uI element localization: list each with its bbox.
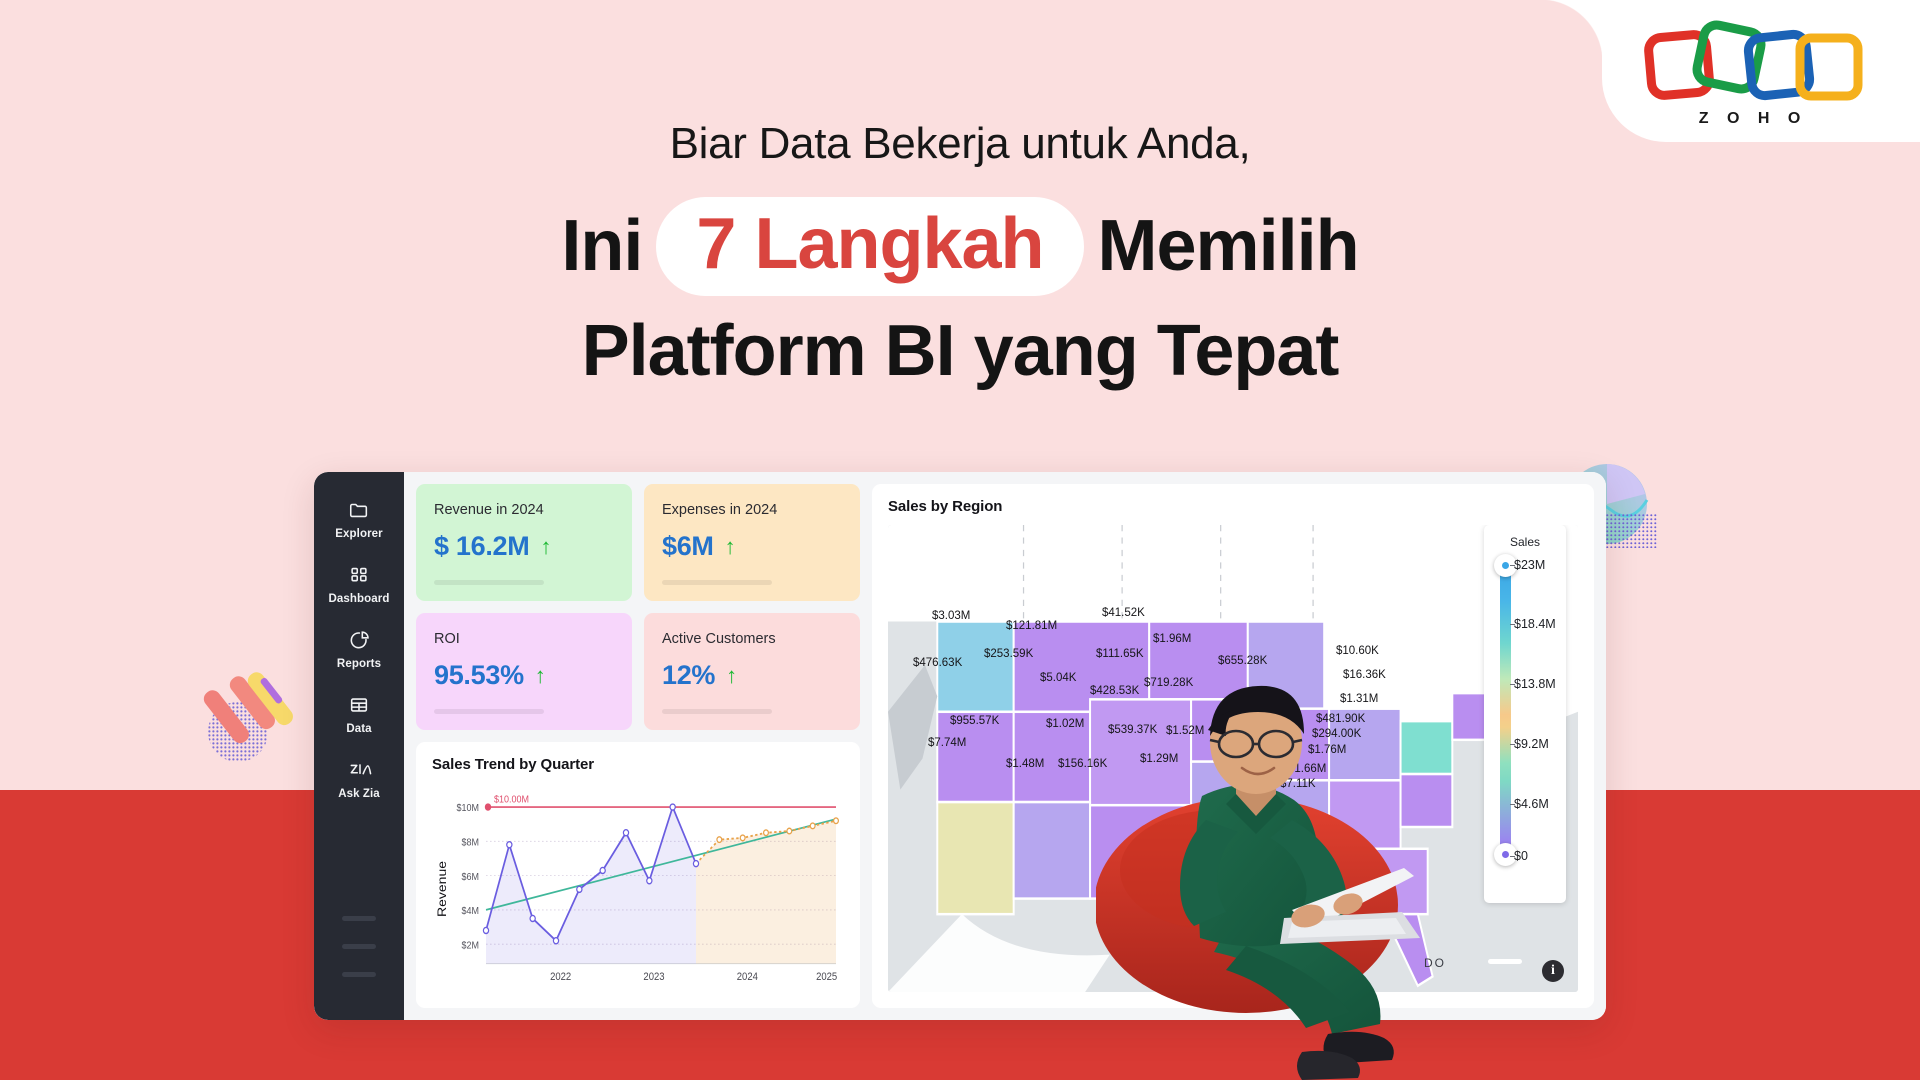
kpi-title: Expenses in 2024 [662, 502, 842, 518]
dashboard-content: Revenue in 2024 $ 16.2M ↑ Expenses in 20… [404, 472, 1606, 1020]
headline-line-3: Platform BI yang Tepat [0, 312, 1920, 391]
trend-up-icon: ↑ [540, 536, 551, 558]
x-axis-tick-label: 2025 [816, 971, 837, 983]
kpi-card-expenses[interactable]: Expenses in 2024 $6M ↑ [644, 484, 860, 601]
legend-tick: $23M [1514, 558, 1545, 572]
table-icon [348, 694, 370, 716]
map-region-value: $41.52K [1102, 607, 1145, 619]
headline-word-after: Memilih [1098, 209, 1359, 285]
legend-tick: $18.4M [1514, 617, 1556, 631]
trend-up-icon: ↑ [725, 536, 736, 558]
data-point[interactable] [693, 861, 698, 867]
map-region-value: $1.31M [1340, 693, 1378, 705]
y-axis-tick-label: $2M [462, 940, 479, 952]
kpi-card-roi[interactable]: ROI 95.53% ↑ [416, 613, 632, 730]
legend-tick: $9.2M [1514, 737, 1549, 751]
zoho-logo: Z O H O [1642, 18, 1872, 128]
sidebar-placeholder-stubs [342, 916, 376, 1020]
card-title: Sales Trend by Quarter [432, 756, 844, 773]
map-region-value: $5.04K [1040, 672, 1076, 684]
headline-block: Biar Data Bekerja untuk Anda, Ini 7 Lang… [0, 118, 1920, 392]
y-axis-tick-label: $8M [462, 837, 479, 849]
x-axis-tick-label: 2024 [737, 971, 758, 983]
legend-tick: $0 [1514, 849, 1528, 863]
data-point[interactable] [553, 938, 558, 944]
dashboard-sidebar: Explorer Dashboard Reports [314, 472, 404, 1020]
dashboard-window: Explorer Dashboard Reports [314, 472, 1606, 1020]
sidebar-stub [342, 916, 376, 921]
map-region-value: $111.65K [1096, 648, 1144, 660]
kpi-value: $ 16.2M [434, 531, 529, 562]
right-column: Sales by Region [872, 484, 1594, 1008]
sidebar-stub [342, 972, 376, 977]
us-choropleth-map [888, 525, 1578, 992]
kpi-sparkline-placeholder [662, 580, 772, 585]
map-region-value: $539.37K [1108, 724, 1157, 736]
pie-chart-icon [348, 629, 370, 651]
map-region-value: $1.76M [1308, 744, 1346, 756]
headline-word-before: Ini [561, 209, 642, 285]
map-region-value: $156.16K [1058, 758, 1107, 770]
map-region-value: $719.28K [1144, 677, 1193, 689]
headline-line-1: Biar Data Bekerja untuk Anda, [0, 118, 1920, 171]
sales-trend-card: Sales Trend by Quarter $2M$4M$6M$8M$10M2… [416, 742, 860, 1008]
kpi-title: Revenue in 2024 [434, 502, 614, 518]
sidebar-item-explorer[interactable]: Explorer [314, 486, 404, 551]
x-axis-tick-label: 2022 [550, 971, 571, 983]
map-region-value: $253.59K [984, 648, 1033, 660]
sidebar-item-label: Explorer [335, 528, 382, 540]
headline-highlight-pill: 7 Langkah [656, 197, 1083, 297]
map-region-value: $7.74M [928, 737, 966, 749]
kpi-card-active-customers[interactable]: Active Customers 12% ↑ [644, 613, 860, 730]
decoration-bars-left [196, 650, 306, 770]
map-region-value: $955.57K [950, 715, 999, 727]
grid-icon [348, 564, 370, 586]
map-region-value: $294.00K [1312, 728, 1361, 740]
forecast-area [696, 821, 836, 964]
map-region-value: $476.63K [913, 657, 962, 669]
y-axis-title: Revenue [435, 861, 449, 917]
kpi-value: $6M [662, 531, 714, 562]
kpi-sparkline-placeholder [434, 709, 544, 714]
legend-title: Sales [1484, 535, 1566, 549]
legend-body: $23M $18.4M $13.8M $9.2M $4.6M $0 [1484, 555, 1566, 883]
y-axis-tick-label: $4M [462, 906, 479, 918]
zia-icon [348, 759, 370, 781]
trend-up-icon: ↑ [535, 665, 546, 687]
forecast-point[interactable] [764, 830, 769, 836]
map-region-value: $1.96M [1153, 633, 1191, 645]
kpi-sparkline-placeholder [662, 709, 772, 714]
left-column: Revenue in 2024 $ 16.2M ↑ Expenses in 20… [416, 484, 860, 1008]
map-scale-bar [1488, 959, 1522, 964]
sidebar-item-label: Data [346, 723, 371, 735]
target-line-label: $10.00M [494, 794, 529, 806]
forecast-point[interactable] [834, 818, 839, 824]
y-axis-tick-label: $10M [457, 803, 479, 815]
data-point[interactable] [623, 830, 628, 836]
headline-line-2: Ini 7 Langkah Memilih [0, 197, 1920, 297]
legend-tick: $4.6M [1514, 797, 1549, 811]
forecast-point[interactable] [787, 828, 792, 834]
map-region-value: $3.03M [932, 610, 970, 622]
kpi-value: 95.53% [434, 660, 524, 691]
map-region-value: $7.11K [1280, 778, 1316, 790]
map-region-value: $1.02M [1046, 718, 1084, 730]
map-region-value: $16.36K [1343, 669, 1386, 681]
map-region-value: $655.28K [1218, 655, 1267, 667]
kpi-value-row: 95.53% ↑ [434, 660, 614, 691]
data-point[interactable] [483, 927, 488, 933]
map-legend[interactable]: Sales $23M $18.4M $13.8M $9.2M $4.6M $0 [1484, 525, 1566, 903]
sidebar-item-reports[interactable]: Reports [314, 616, 404, 681]
map-region-value: $871K [1233, 695, 1266, 707]
forecast-point[interactable] [740, 835, 745, 841]
kpi-title: Active Customers [662, 631, 842, 647]
forecast-point[interactable] [810, 823, 815, 829]
kpi-value-row: 12% ↑ [662, 660, 842, 691]
map-region-value: $1.66M [1288, 763, 1326, 775]
map-region-value: $10.60K [1336, 645, 1379, 657]
zoho-logo-marks [1642, 18, 1872, 104]
map-region-value: $428.53K [1090, 685, 1139, 697]
sales-trend-chart[interactable]: $2M$4M$6M$8M$10M2022202320242025Revenue$… [432, 777, 844, 994]
data-point[interactable] [647, 878, 652, 884]
info-icon[interactable]: i [1542, 960, 1564, 982]
kpi-value-row: $6M ↑ [662, 531, 842, 562]
map-region-value: $481.90K [1316, 713, 1365, 725]
map-region-value: $1.48M [1006, 758, 1044, 770]
map-region-value: $1.29M [1140, 753, 1178, 765]
x-axis-tick-label: 2023 [643, 971, 664, 983]
sales-trend-plot: $2M$4M$6M$8M$10M2022202320242025Revenue$… [432, 777, 844, 994]
kpi-grid: Revenue in 2024 $ 16.2M ↑ Expenses in 20… [416, 484, 860, 730]
data-point[interactable] [530, 915, 535, 921]
data-point[interactable] [670, 804, 675, 810]
map-region-value: $121.81M [1006, 620, 1057, 632]
map-watermark: DO [1424, 956, 1446, 970]
target-line-marker [485, 803, 491, 810]
sidebar-item-label: Reports [337, 658, 381, 670]
data-point[interactable] [600, 867, 605, 873]
data-point[interactable] [577, 886, 582, 892]
sidebar-item-ask-zia[interactable]: Ask Zia [314, 746, 404, 811]
card-title: Sales by Region [888, 498, 1578, 515]
kpi-card-revenue[interactable]: Revenue in 2024 $ 16.2M ↑ [416, 484, 632, 601]
kpi-value: 12% [662, 660, 715, 691]
kpi-title: ROI [434, 631, 614, 647]
data-point[interactable] [507, 842, 512, 848]
sidebar-item-dashboard[interactable]: Dashboard [314, 551, 404, 616]
map-region-value: $1.52M [1166, 725, 1204, 737]
sidebar-item-label: Ask Zia [338, 788, 380, 800]
sidebar-stub [342, 944, 376, 949]
y-axis-tick-label: $6M [462, 871, 479, 883]
sales-by-region-card: Sales by Region [872, 484, 1594, 1008]
trend-up-icon: ↑ [726, 665, 737, 687]
legend-gradient-bar [1500, 565, 1511, 865]
legend-tick: $13.8M [1514, 677, 1556, 691]
kpi-value-row: $ 16.2M ↑ [434, 531, 614, 562]
map-canvas[interactable]: $3.03M$121.81M$41.52K$1.96M$476.63K$253.… [888, 525, 1578, 992]
forecast-point[interactable] [717, 837, 722, 843]
sidebar-item-label: Dashboard [329, 593, 390, 605]
folder-icon [348, 499, 370, 521]
kpi-sparkline-placeholder [434, 580, 544, 585]
sidebar-item-data[interactable]: Data [314, 681, 404, 746]
